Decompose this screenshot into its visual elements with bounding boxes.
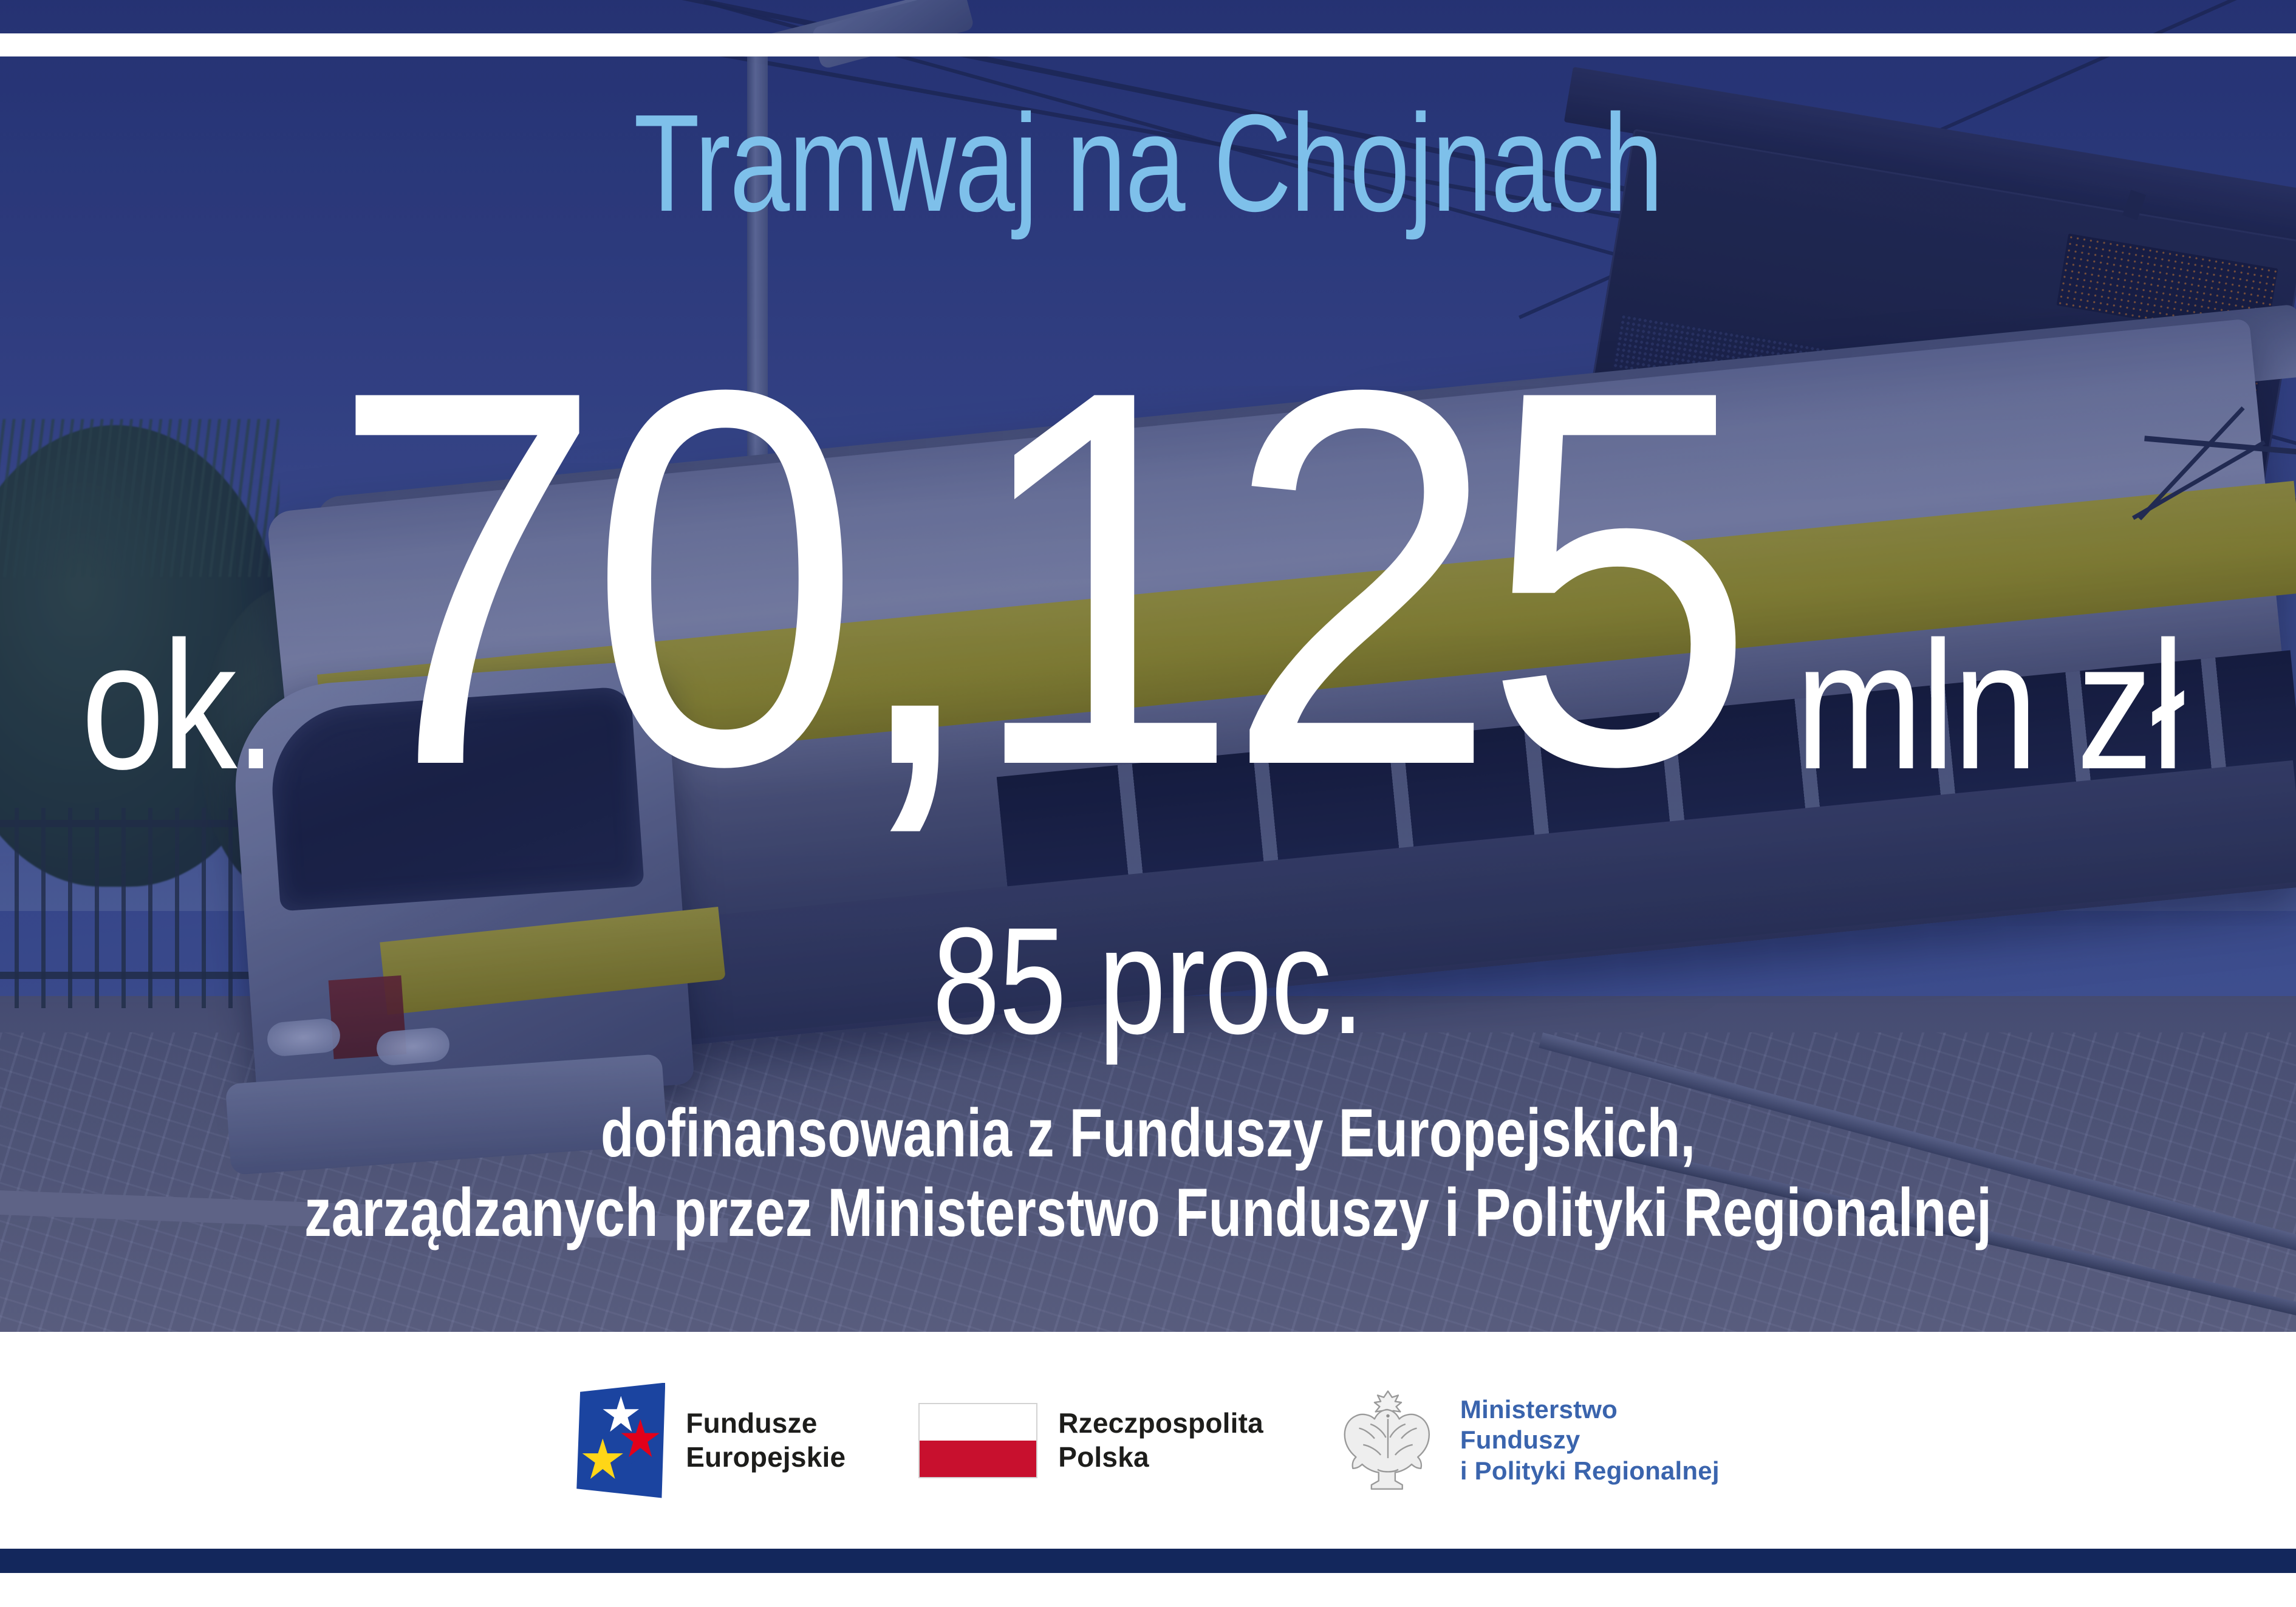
logo-rp-text: Rzeczpospolita Polska — [1058, 1407, 1263, 1473]
description-line-2: zarządzanych przez Ministerstwo Funduszy… — [230, 1173, 2066, 1252]
description-block: dofinansowania z Funduszy Europejskich, … — [0, 1093, 2296, 1252]
description-line-1: dofinansowania z Funduszy Europejskich, — [230, 1093, 2066, 1173]
logo-footer-bar: Fundusze Europejskie Rzeczpospolita Pols… — [0, 1332, 2296, 1549]
logo-ministerstwo-funduszy: Ministerstwo Funduszy i Polityki Regiona… — [1336, 1383, 1720, 1498]
bottom-navy-bar — [0, 1549, 2296, 1573]
polish-flag-icon — [918, 1403, 1037, 1478]
text-overlay: Tramwaj na Chojnach ok. 70,125 mln zł 85… — [0, 0, 2296, 1332]
logo-fe-line2: Europejskie — [686, 1441, 846, 1474]
amount-suffix: mln zł — [1795, 619, 2183, 792]
logo-ministry-line1: Ministerstwo — [1460, 1394, 1720, 1425]
bottom-white-area — [0, 1573, 2296, 1607]
logo-rp-line2: Polska — [1058, 1441, 1263, 1474]
percentage-value: 85 proc. — [230, 905, 2066, 1057]
logo-ministry-text: Ministerstwo Funduszy i Polityki Regiona… — [1460, 1394, 1720, 1486]
logo-rzeczpospolita-polska: Rzeczpospolita Polska — [918, 1403, 1263, 1478]
amount-group: ok. 70,125 mln zł — [0, 364, 2296, 792]
logo-ministry-line3: i Polityki Regionalnej — [1460, 1456, 1720, 1486]
logo-fundusze-europejskie: Fundusze Europejskie — [576, 1383, 846, 1498]
logo-fe-line1: Fundusze — [686, 1407, 846, 1440]
polish-eagle-emblem-icon — [1336, 1383, 1440, 1498]
logo-ministry-line2: Funduszy — [1460, 1425, 1720, 1455]
eu-flag-stars-icon — [576, 1383, 665, 1498]
amount-value: 70,125 — [330, 364, 1741, 792]
poster-root: Tramwaj na Chojnach ok. 70,125 mln zł 85… — [0, 0, 2296, 1607]
logo-fe-text: Fundusze Europejskie — [686, 1407, 846, 1473]
page-title: Tramwaj na Chojnach — [253, 94, 2043, 233]
logo-rp-line1: Rzeczpospolita — [1058, 1407, 1263, 1440]
amount-prefix: ok. — [81, 619, 275, 792]
